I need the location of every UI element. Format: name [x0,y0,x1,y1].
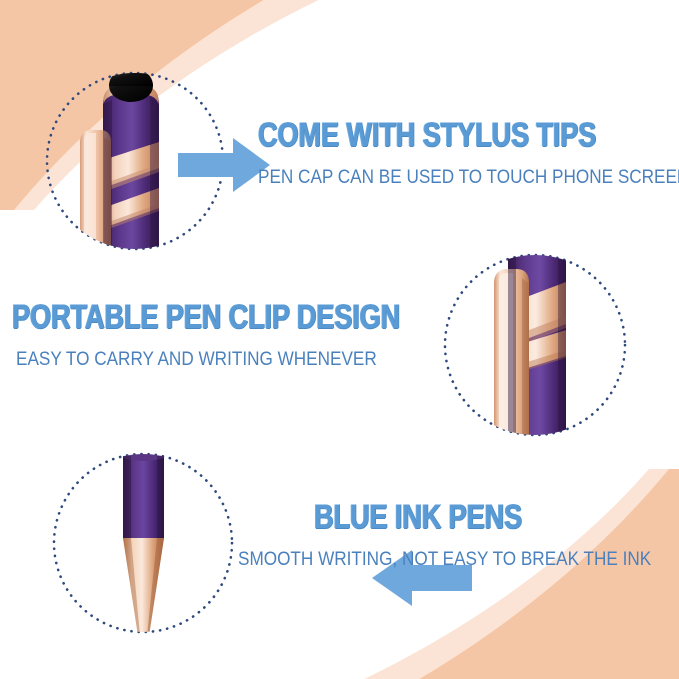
pen-writing-tip-illustration [45,438,260,648]
feature-3-headline: BLUE INK PENS [314,500,629,534]
feature-3-subline: SMOOTH WRITING, NOT EASY TO BREAK THE IN… [238,548,651,570]
feature-block-pen-clip: PORTABLE PEN CLIP DESIGN EASY TO CARRY A… [0,238,679,453]
feature-1-text: COME WITH STYLUS TIPS PEN CAP CAN BE USE… [258,118,679,188]
feature-2-subline: EASY TO CARRY AND WRITING WHENEVER [16,348,338,370]
feature-block-stylus-tips: COME WITH STYLUS TIPS PEN CAP CAN BE USE… [0,56,679,266]
feature-1-headline: COME WITH STYLUS TIPS [258,118,650,152]
feature-1-subline: PEN CAP CAN BE USED TO TOUCH PHONE SCREE… [258,166,679,188]
feature-2-headline: PORTABLE PEN CLIP DESIGN [12,300,308,334]
feature-3-text: BLUE INK PENS SMOOTH WRITING, NOT EASY T… [238,500,679,570]
feature-block-blue-ink: BLUE INK PENS SMOOTH WRITING, NOT EASY T… [0,438,679,648]
infographic-canvas: COME WITH STYLUS TIPS PEN CAP CAN BE USE… [0,0,679,679]
feature-2-text: PORTABLE PEN CLIP DESIGN EASY TO CARRY A… [0,300,382,370]
pen-clip-illustration [430,238,645,453]
arrow-right-icon [178,136,270,194]
